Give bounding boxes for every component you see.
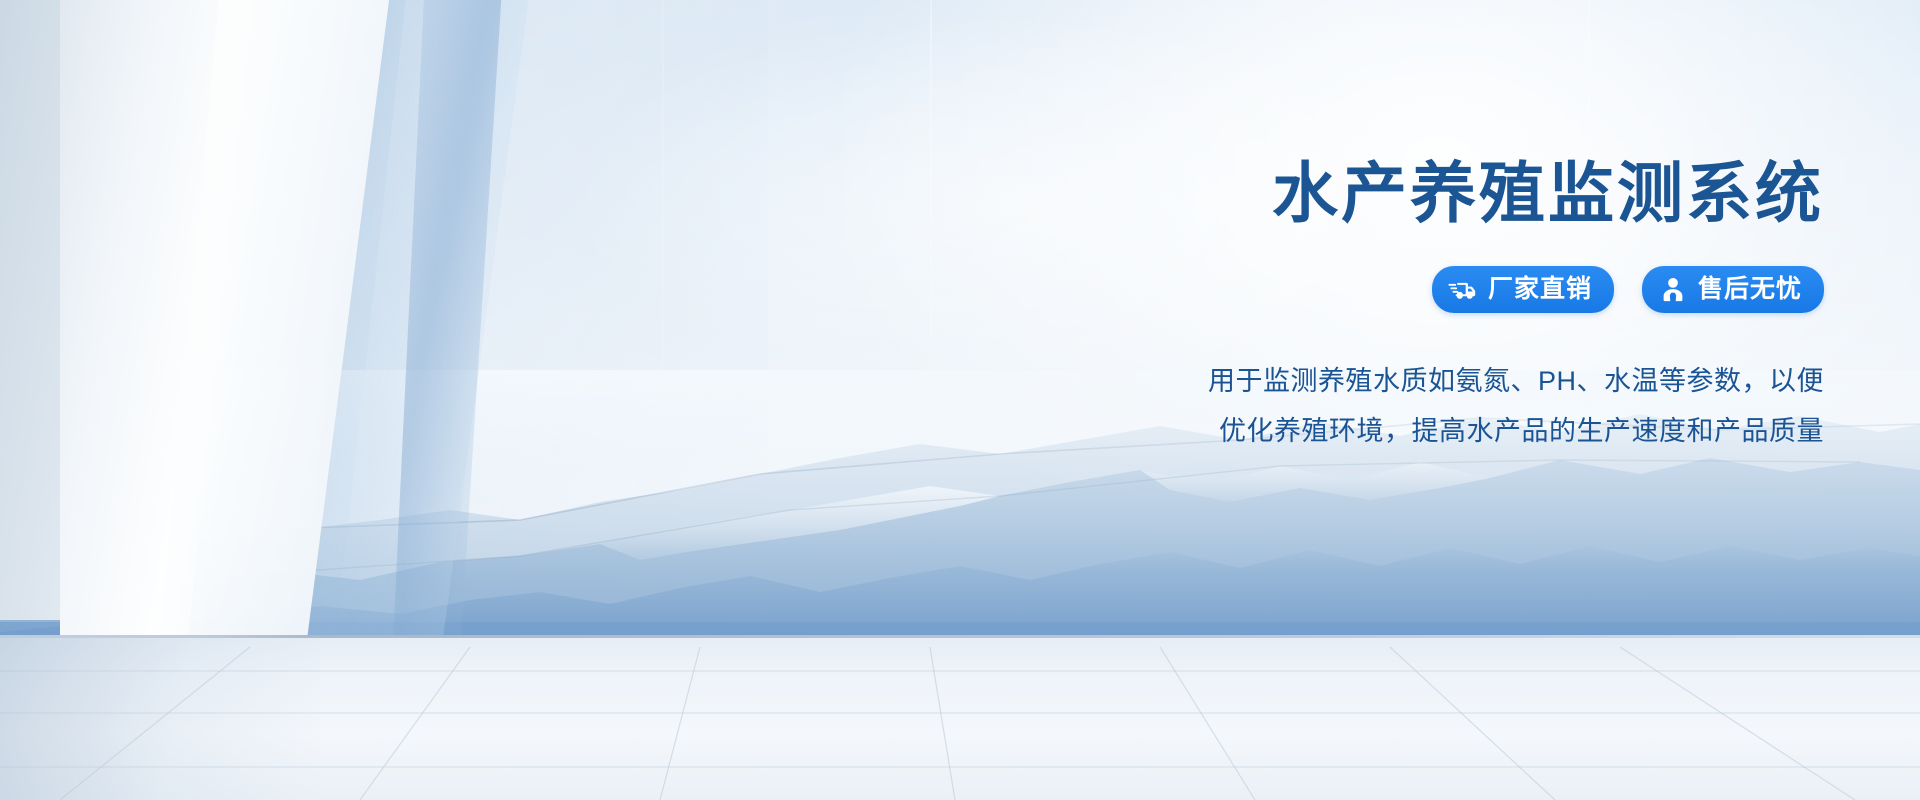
plaza-floor (0, 635, 1920, 800)
white-pillar-secondary (150, 0, 480, 680)
blue-glass-blade (300, 0, 640, 690)
badge-after-sales-label: 售后无忧 (1698, 274, 1802, 305)
left-wall-slab (0, 0, 190, 620)
badge-factory-direct[interactable]: 厂家直销 (1432, 266, 1614, 313)
support-agent-icon (1658, 275, 1688, 305)
white-pillar (60, 0, 380, 640)
hero-banner: 水产养殖监测系统 厂家直销 (0, 0, 1920, 800)
badge-group: 厂家直销 售后无忧 (1084, 266, 1824, 313)
description-line-2: 优化养殖环境，提高水产品的生产速度和产品质量 (1084, 407, 1824, 457)
delivery-truck-icon (1448, 275, 1478, 305)
description-line-1: 用于监测养殖水质如氨氮、PH、水温等参数，以便 (1084, 357, 1824, 407)
glass-mullion (930, 0, 932, 690)
glass-mullion (662, 0, 664, 680)
page-title: 水产养殖监测系统 (1084, 160, 1824, 226)
banner-content: 水产养殖监测系统 厂家直销 (1084, 160, 1824, 457)
banner-description: 用于监测养殖水质如氨氮、PH、水温等参数，以便 优化养殖环境，提高水产品的生产速… (1084, 357, 1824, 457)
glass-reflection-streak (392, 0, 522, 660)
badge-after-sales[interactable]: 售后无忧 (1642, 266, 1824, 313)
badge-factory-direct-label: 厂家直销 (1488, 274, 1592, 305)
plaza-shadow (0, 635, 320, 800)
